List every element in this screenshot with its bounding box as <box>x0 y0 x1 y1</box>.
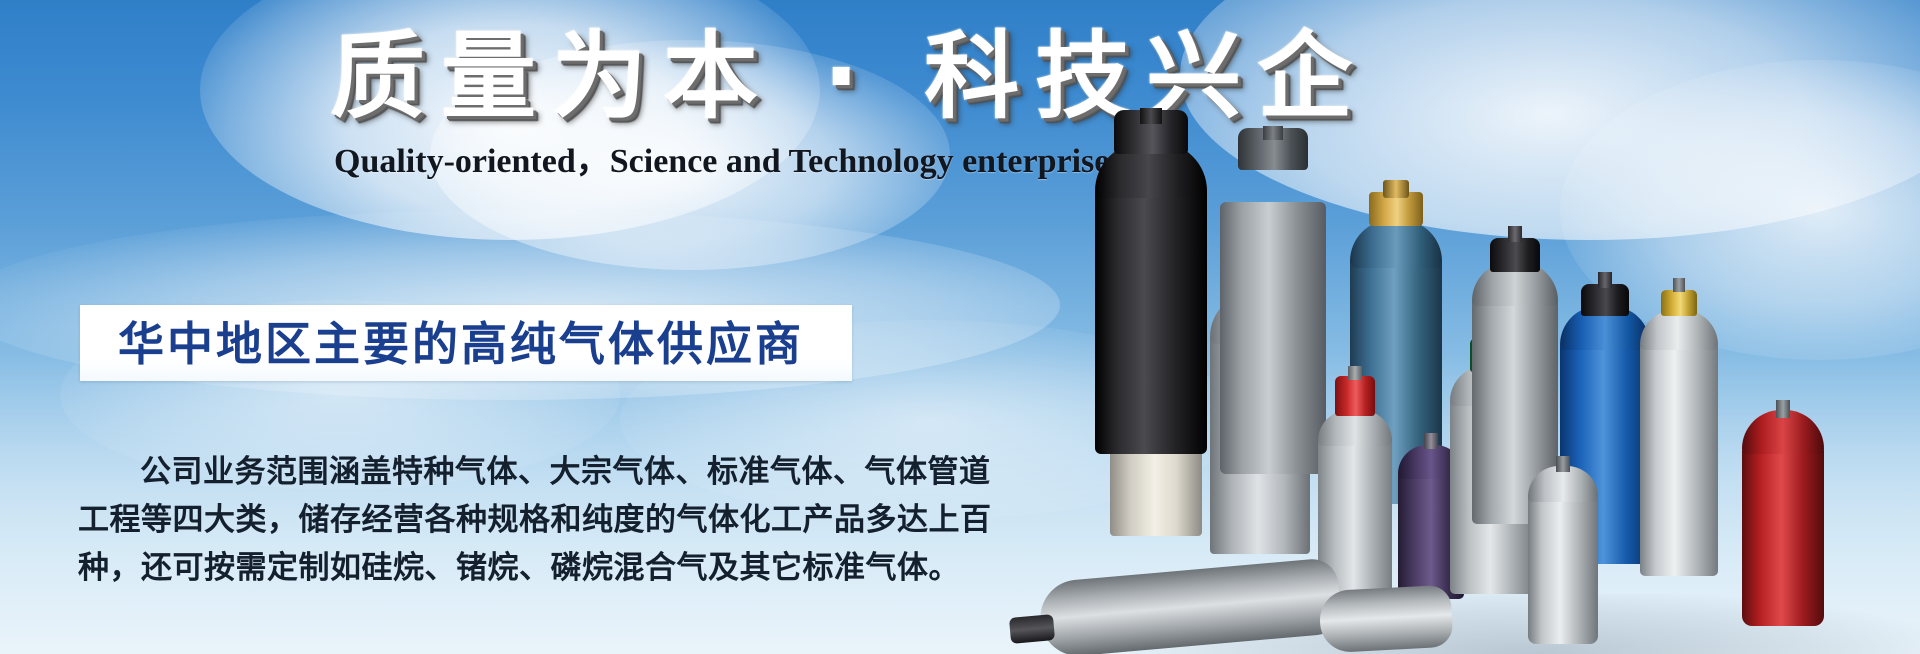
cylinder-valve <box>1140 108 1162 124</box>
cylinder-valve <box>1776 400 1790 418</box>
front-silver-short-cylinder <box>1318 585 1453 654</box>
description-line-3: 种，还可按需定制如硅烷、锗烷、磷烷混合气及其它标准气体。 <box>78 544 868 592</box>
description-line-1: 公司业务范围涵盖特种气体、大宗气体、标准气体、气体管道 <box>78 448 868 496</box>
banner-headline: 质量为本 · 科技兴企 <box>330 22 1250 132</box>
silver-aluminum-cylinder <box>1640 276 1718 576</box>
cylinder-valve-stem <box>1598 272 1612 288</box>
grey-tall-cylinder <box>1220 134 1326 474</box>
red-valve-cap <box>1335 376 1375 416</box>
cylinder-shoulder <box>1350 220 1442 268</box>
gas-cylinder-group-image <box>1150 150 1920 654</box>
cylinder-body <box>1742 446 1824 626</box>
cylinder-valve <box>1263 126 1283 140</box>
red-cylinder <box>1742 394 1824 626</box>
cylinder-body <box>1220 202 1326 474</box>
yellow-valve-cap <box>1661 290 1697 316</box>
small-silver-cylinder <box>1528 454 1598 644</box>
callout-headline: 华中地区主要的高纯气体供应商 <box>118 313 858 375</box>
cylinder-valve-stem <box>1673 278 1685 292</box>
cylinder-body <box>1640 342 1718 576</box>
horizontal-grey-tank <box>1037 557 1342 654</box>
cylinder-valve <box>1556 456 1570 472</box>
cylinder-valve-stem <box>1348 366 1362 380</box>
hero-banner: 质量为本 · 科技兴企 Quality-oriented，Science and… <box>0 0 1920 654</box>
valve-handwheel <box>1383 180 1409 198</box>
cylinder-valve-stem <box>1508 226 1522 242</box>
cylinder-body <box>1095 186 1207 454</box>
cylinder-shoulder <box>1640 310 1718 350</box>
description-line-2: 工程等四大类，储存经营各种规格和纯度的气体化工产品多达上百 <box>78 496 868 544</box>
black-large-cylinder <box>1095 124 1207 454</box>
black-valve-guard <box>1490 238 1540 272</box>
horizontal-tank-valve <box>1009 614 1055 644</box>
black-valve-guard <box>1581 284 1629 316</box>
cylinder-body <box>1528 494 1598 644</box>
banner-description: 公司业务范围涵盖特种气体、大宗气体、标准气体、气体管道 工程等四大类，储存经营各… <box>78 448 868 592</box>
cylinder-valve <box>1424 433 1438 449</box>
red-valve-cylinder <box>1318 362 1392 592</box>
